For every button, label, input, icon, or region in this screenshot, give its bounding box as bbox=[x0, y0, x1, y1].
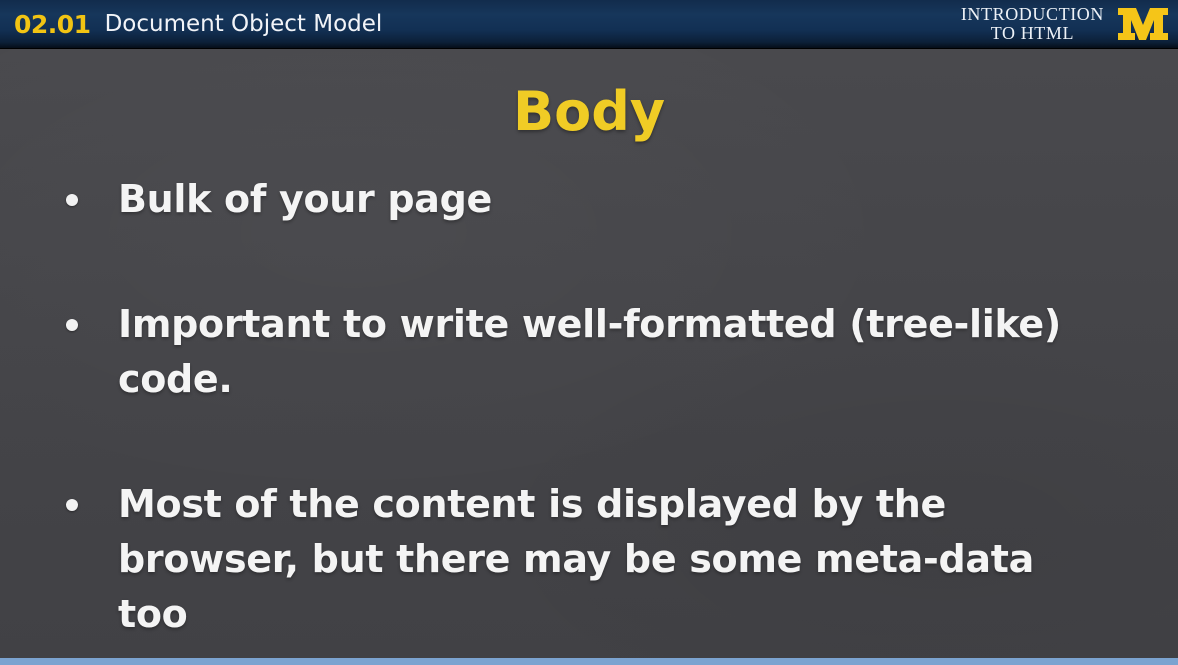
bullet-point-icon bbox=[66, 499, 78, 511]
course-name-line2: TO HTML bbox=[961, 24, 1104, 43]
slide-header-bar: 02.01 Document Object Model INTRODUCTION… bbox=[0, 0, 1178, 48]
bullet-item-text: Important to write well-formatted (tree-… bbox=[118, 297, 1088, 407]
header-right-group: INTRODUCTION TO HTML bbox=[961, 0, 1170, 48]
course-name: INTRODUCTION TO HTML bbox=[961, 5, 1104, 43]
bullet-item: Most of the content is displayed by the … bbox=[0, 477, 1178, 642]
bullet-point-icon bbox=[66, 194, 78, 206]
bullet-item: Important to write well-formatted (tree-… bbox=[0, 297, 1178, 407]
bullet-item: Bulk of your page bbox=[0, 172, 1178, 227]
video-progress-bar[interactable] bbox=[0, 658, 1178, 665]
course-name-line1: INTRODUCTION bbox=[961, 5, 1104, 24]
header-left-group: 02.01 Document Object Model bbox=[14, 0, 382, 48]
slide-screenshot: 02.01 Document Object Model INTRODUCTION… bbox=[0, 0, 1178, 665]
bullet-item-text: Most of the content is displayed by the … bbox=[118, 477, 1088, 642]
bullet-item-text: Bulk of your page bbox=[118, 172, 492, 227]
slide-title: Body bbox=[0, 80, 1178, 143]
lesson-title: Document Object Model bbox=[105, 13, 383, 36]
bullet-point-icon bbox=[66, 319, 78, 331]
michigan-block-m-logo bbox=[1116, 4, 1170, 44]
lesson-number: 02.01 bbox=[14, 12, 91, 37]
slide-bullet-list: Bulk of your page Important to write wel… bbox=[0, 172, 1178, 665]
